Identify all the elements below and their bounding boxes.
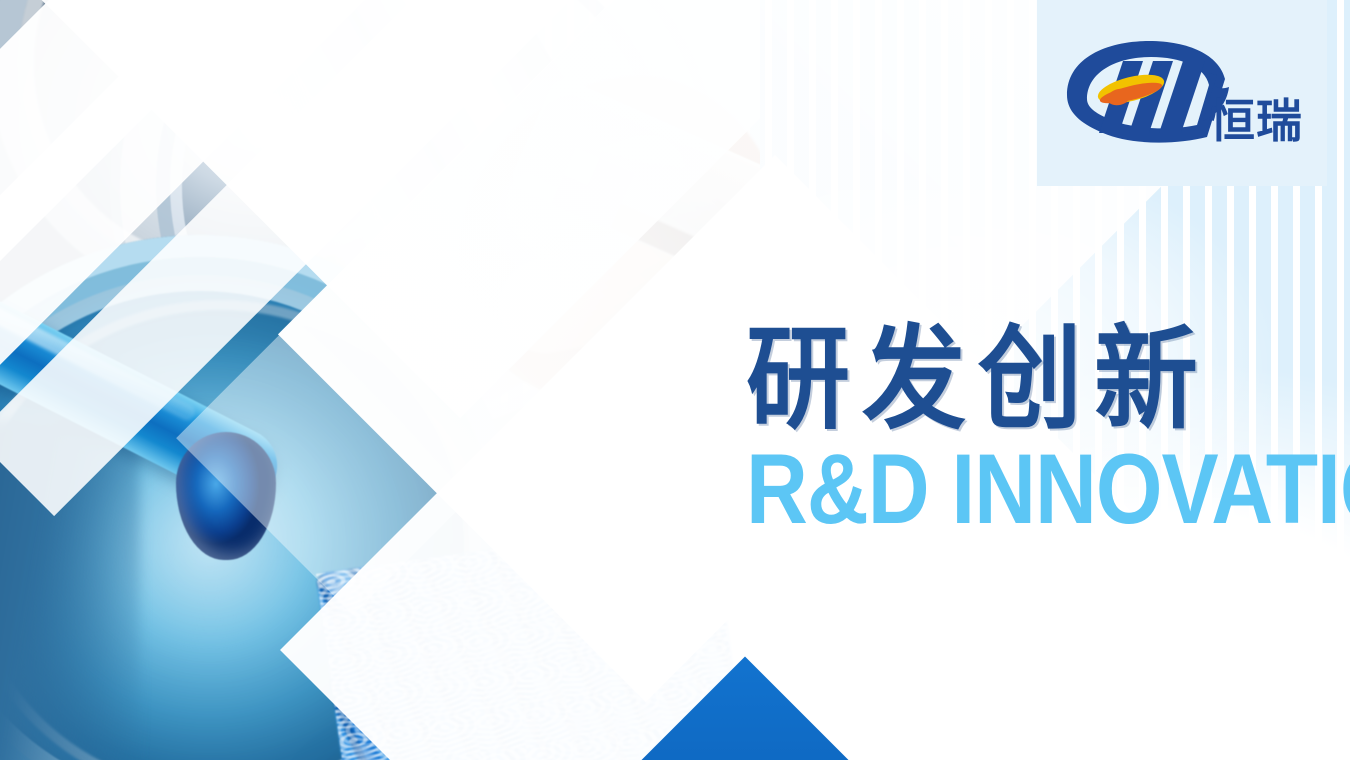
headline-block: 研发创新 R&D INNOVATION [746, 323, 1350, 523]
petri-dish-shadow-image [0, 420, 140, 760]
hengrui-logo[interactable]: 恒瑞 恒瑞 [1057, 33, 1307, 153]
hengrui-h-mark [1067, 41, 1229, 143]
logo-brand-text: 恒瑞 [1209, 94, 1303, 148]
logo-plate[interactable]: 恒瑞 恒瑞 [1037, 0, 1327, 186]
headline-chinese: 研发创新 [746, 323, 1350, 435]
rnd-innovation-banner: 恒瑞 恒瑞 研发创新 R&D INNOVATION [0, 0, 1350, 760]
headline-english: R&D INNOVATION [746, 439, 1350, 538]
hengrui-wordmark: 恒瑞 [1209, 94, 1303, 148]
